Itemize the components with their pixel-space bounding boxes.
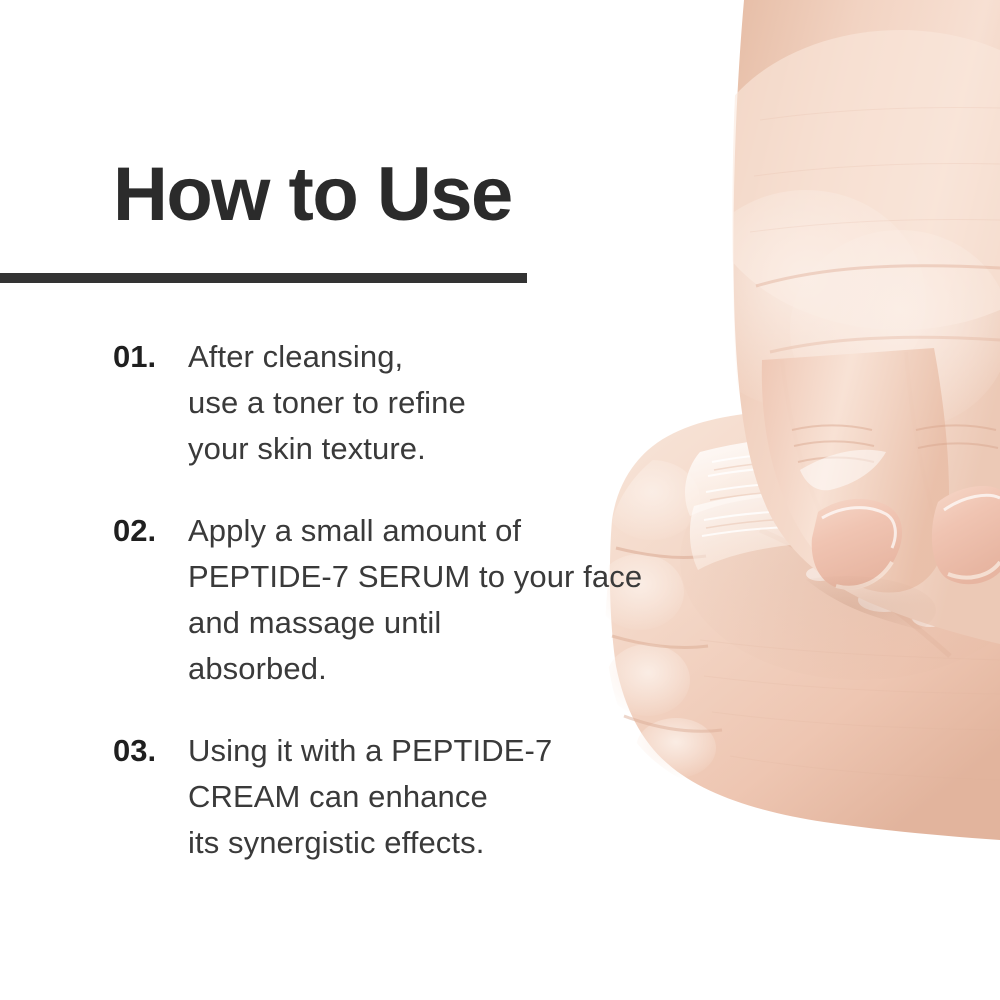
list-item: 02. Apply a small amount of PEPTIDE-7 SE… xyxy=(113,508,733,692)
step-text-line: your skin texture. xyxy=(188,426,733,472)
step-number: 01. xyxy=(113,334,188,380)
step-text-line: use a toner to refine xyxy=(188,380,733,426)
step-text-line: PEPTIDE-7 SERUM to your face xyxy=(188,554,733,600)
step-text: Using it with a PEPTIDE-7 CREAM can enha… xyxy=(188,728,733,866)
step-text-line: After cleansing, xyxy=(188,334,733,380)
list-item: 01. After cleansing, use a toner to refi… xyxy=(113,334,733,472)
step-text: After cleansing, use a toner to refine y… xyxy=(188,334,733,472)
step-number: 03. xyxy=(113,728,188,774)
how-to-use-panel: How to Use 01. After cleansing, use a to… xyxy=(0,0,1000,1000)
step-text-line: Apply a small amount of xyxy=(188,508,733,554)
step-text-line: Using it with a PEPTIDE-7 xyxy=(188,728,733,774)
page-title: How to Use xyxy=(113,157,512,233)
list-item: 03. Using it with a PEPTIDE-7 CREAM can … xyxy=(113,728,733,866)
steps-list: 01. After cleansing, use a toner to refi… xyxy=(113,334,733,866)
step-number: 02. xyxy=(113,508,188,554)
step-text-line: and massage until xyxy=(188,600,733,646)
title-underline-rule xyxy=(0,273,527,283)
upper-hand xyxy=(686,0,1000,644)
step-text: Apply a small amount of PEPTIDE-7 SERUM … xyxy=(188,508,733,692)
step-text-line: absorbed. xyxy=(188,646,733,692)
step-text-line: its synergistic effects. xyxy=(188,820,733,866)
step-text-line: CREAM can enhance xyxy=(188,774,733,820)
